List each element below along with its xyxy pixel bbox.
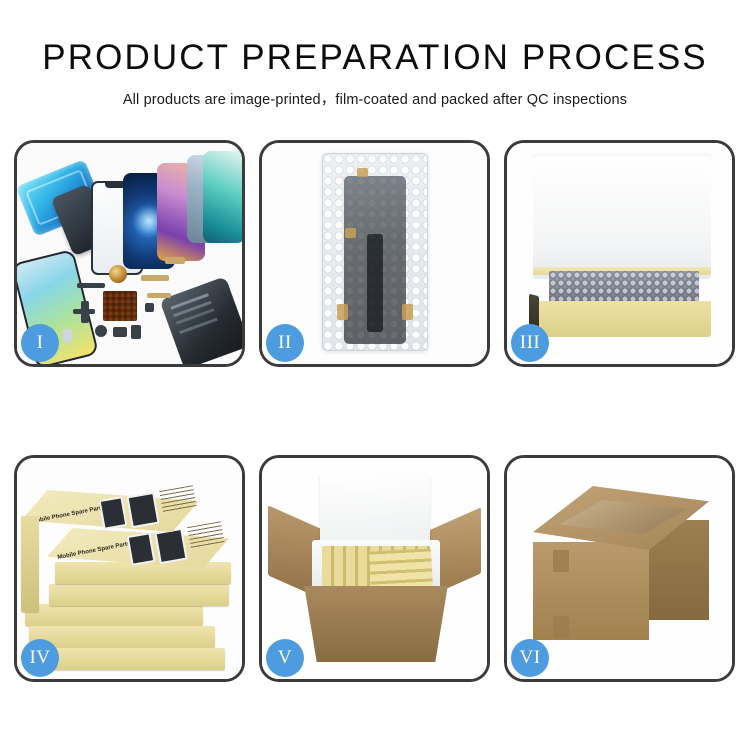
process-panel-6[interactable]: VI [504, 455, 735, 682]
yellow-boxes-icon [369, 548, 433, 591]
kraft-box-front-icon [533, 301, 711, 337]
panel-badge-5: V [266, 639, 304, 677]
box-thumbnail-icon [154, 528, 187, 564]
component-part-icon [95, 325, 107, 337]
box-thumbnail-icon [99, 496, 128, 530]
panel-badge-6: VI [511, 639, 549, 677]
component-part-icon [77, 283, 105, 288]
chip-grid-icon [103, 291, 137, 321]
panel-badge-3: III [511, 324, 549, 362]
bubble-wrap-icon [322, 153, 428, 351]
process-panel-2[interactable]: II [259, 140, 490, 367]
process-panel-1[interactable]: I [14, 140, 245, 367]
product-preparation-page: PRODUCT PREPARATION PROCESS All products… [0, 0, 750, 750]
component-part-icon [131, 325, 141, 339]
foam-lid-icon [533, 157, 711, 279]
process-panel-4[interactable]: Mobile Phone Spare Parts Mobile Phone Sp… [14, 455, 245, 682]
box-thumbnail-icon [126, 492, 159, 528]
teal-display-icon [203, 151, 242, 243]
panel-badge-2: II [266, 324, 304, 362]
gold-connector-icon [337, 304, 348, 320]
component-part-icon [113, 327, 127, 337]
component-part-icon [63, 329, 72, 342]
bubble-wrap-icon [549, 271, 699, 305]
flex-cable-icon [147, 293, 171, 298]
flex-cable-icon [165, 257, 185, 264]
box-thumbnail-icon [127, 532, 156, 566]
carton-tape-icon [553, 550, 569, 572]
foam-lid-icon [320, 474, 430, 546]
process-panel-5[interactable]: V [259, 455, 490, 682]
camera-ring-icon [109, 265, 127, 283]
process-panel-3[interactable]: III [504, 140, 735, 367]
page-subtitle: All products are image-printed，film-coat… [0, 88, 750, 109]
kraft-box-stack-icon: Mobile Phone Spare Parts Mobile Phone Sp… [21, 476, 242, 670]
panel-badge-4: IV [21, 639, 59, 677]
gold-connector-icon [357, 168, 368, 177]
carton-face-left-icon [533, 542, 649, 640]
flex-cable-icon [141, 275, 169, 281]
carton-tape-icon [553, 616, 569, 638]
carton-body-icon [298, 586, 454, 662]
component-part-icon [145, 303, 154, 312]
gold-connector-icon [402, 304, 413, 320]
page-header: PRODUCT PREPARATION PROCESS All products… [0, 38, 750, 109]
page-title: PRODUCT PREPARATION PROCESS [0, 38, 750, 78]
gold-connector-icon [345, 228, 356, 238]
process-panel-grid: I II [14, 140, 736, 685]
flex-cable-icon [73, 309, 95, 314]
panel-badge-1: I [21, 324, 59, 362]
flex-cable-icon [367, 234, 383, 332]
